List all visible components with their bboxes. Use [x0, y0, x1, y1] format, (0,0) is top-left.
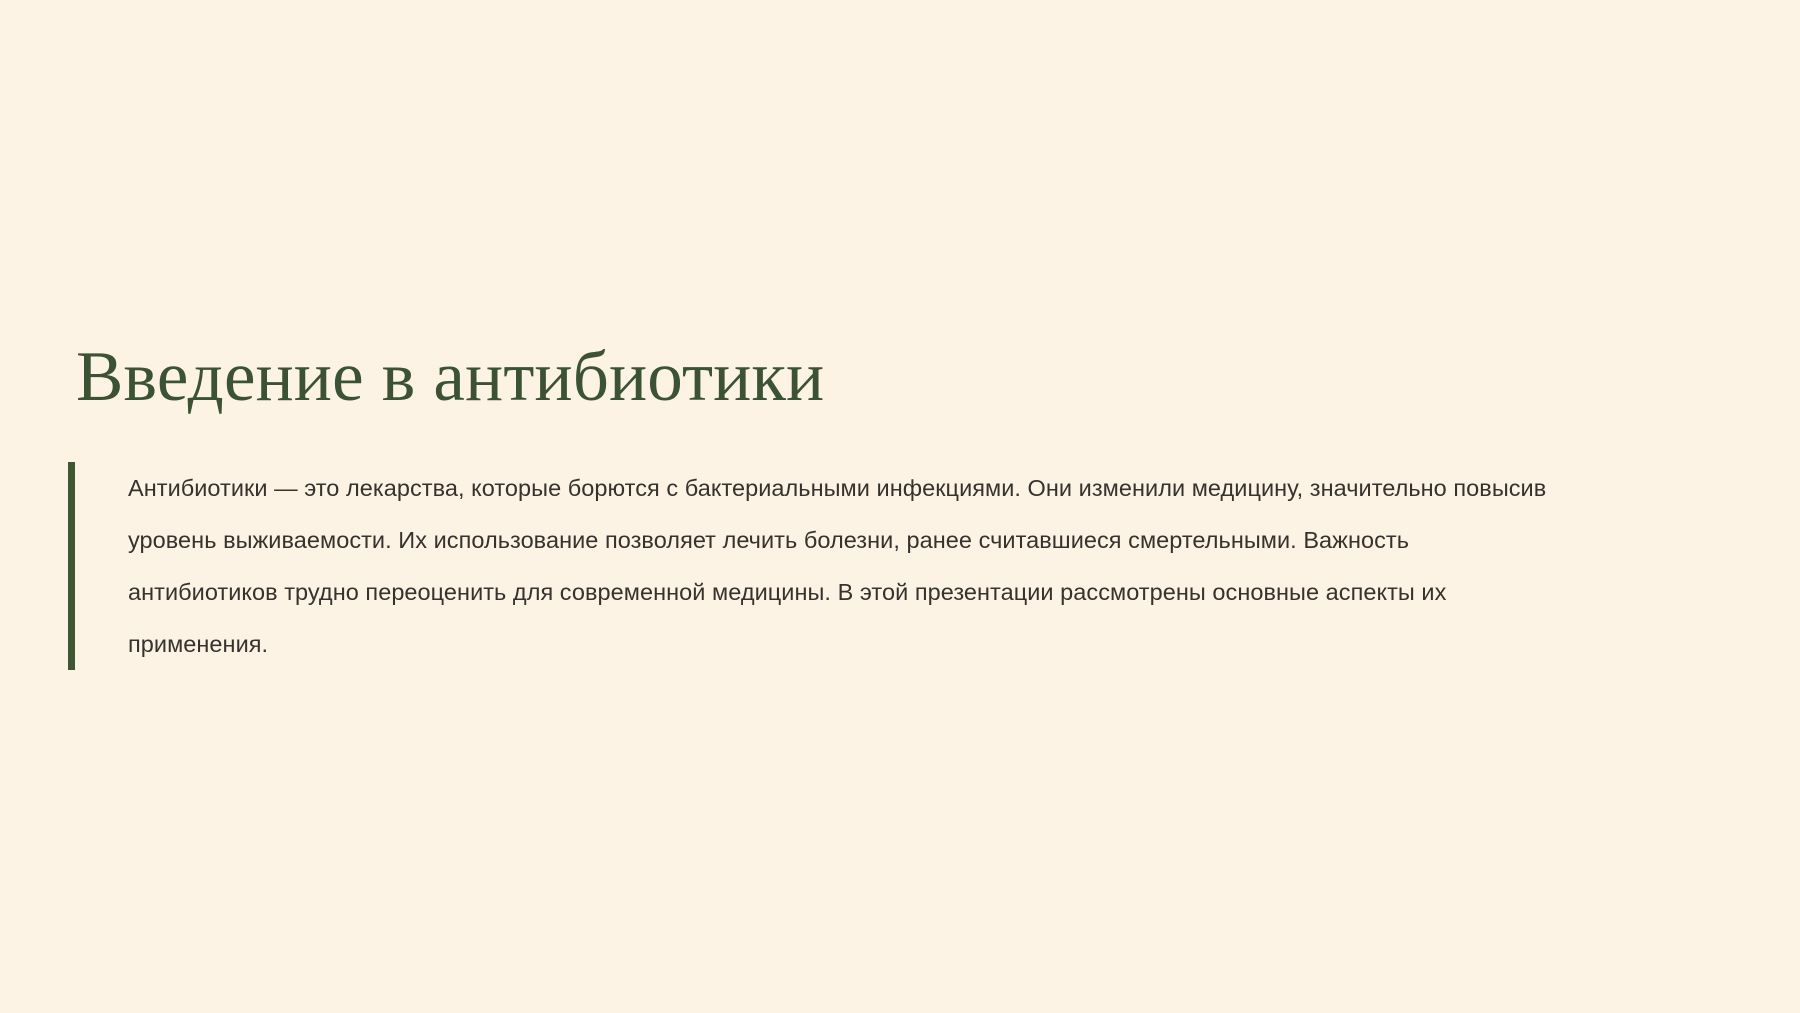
slide-content-area: Введение в антибиотики Антибиотики — это…	[0, 0, 1800, 1013]
accent-bar	[68, 462, 75, 670]
presentation-slide: Введение в антибиотики Антибиотики — это…	[0, 0, 1800, 1013]
body-paragraph: Антибиотики — это лекарства, которые бор…	[128, 462, 1558, 670]
page-title: Введение в антибиотики	[76, 340, 1726, 415]
body-text-block: Антибиотики — это лекарства, которые бор…	[68, 462, 1738, 670]
body-text-wrapper: Антибиотики — это лекарства, которые бор…	[75, 462, 1738, 670]
